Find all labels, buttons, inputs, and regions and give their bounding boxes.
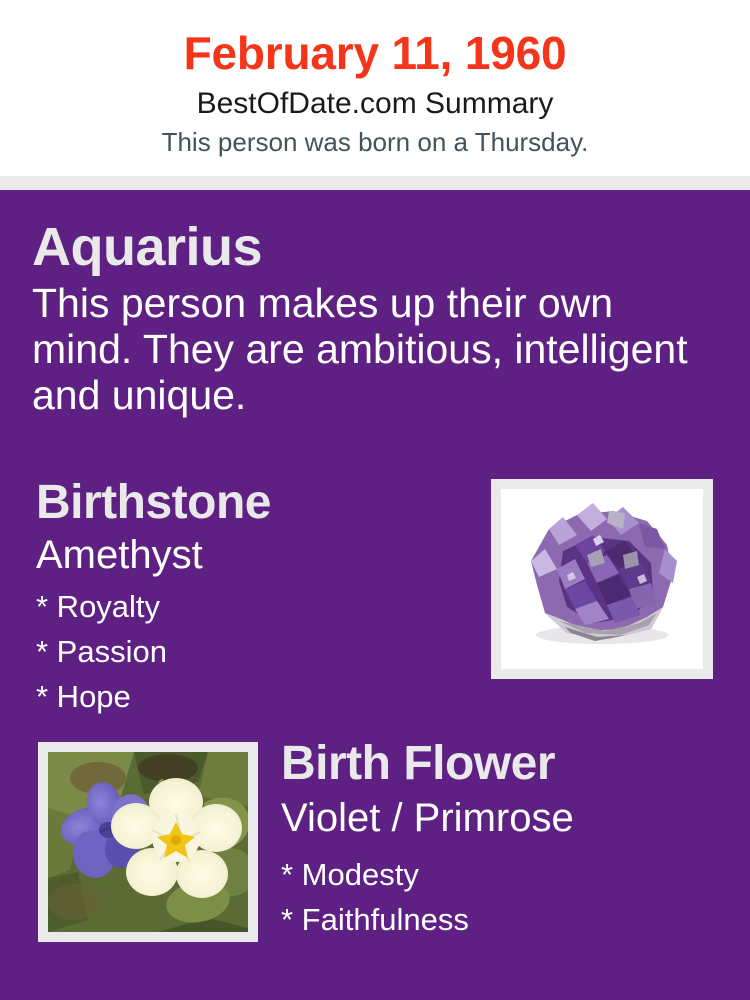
page-title-date: February 11, 1960 [0,0,750,80]
list-item: * Faithfulness [281,897,731,942]
birthstone-photo-frame [491,479,713,679]
zodiac-sign-name: Aquarius [32,216,692,278]
birthflower-trait-list: * Modesty * Faithfulness [281,842,731,942]
birthflower-photo-frame [38,742,258,942]
birthstone-section: Birthstone Amethyst * Royalty * Passion … [36,475,466,719]
birth-weekday-text: This person was born on a Thursday. [0,122,750,158]
birthflower-name: Violet / Primrose [281,793,731,842]
birthstone-title: Birthstone [36,475,466,531]
page-header: February 11, 1960 BestOfDate.com Summary… [0,0,750,176]
birthflower-section: Birth Flower Violet / Primrose * Modesty… [281,735,731,942]
birthflower-photo [48,752,248,932]
summary-page: February 11, 1960 BestOfDate.com Summary… [0,0,750,1000]
violet-and-primrose-icon [48,752,248,932]
birthflower-title: Birth Flower [281,735,731,793]
amethyst-crystal-icon [501,489,703,669]
zodiac-section: Aquarius This person makes up their own … [32,216,692,418]
list-item: * Modesty [281,852,731,897]
list-item: * Hope [36,674,466,719]
content-panel: Aquarius This person makes up their own … [0,190,750,1000]
birthstone-trait-list: * Royalty * Passion * Hope [36,578,466,719]
list-item: * Passion [36,629,466,674]
birthstone-name: Amethyst [36,531,466,578]
site-name: BestOfDate.com Summary [0,80,750,122]
birthstone-photo [501,489,703,669]
zodiac-description: This person makes up their own mind. The… [32,278,692,418]
list-item: * Royalty [36,584,466,629]
header-divider [0,176,750,190]
